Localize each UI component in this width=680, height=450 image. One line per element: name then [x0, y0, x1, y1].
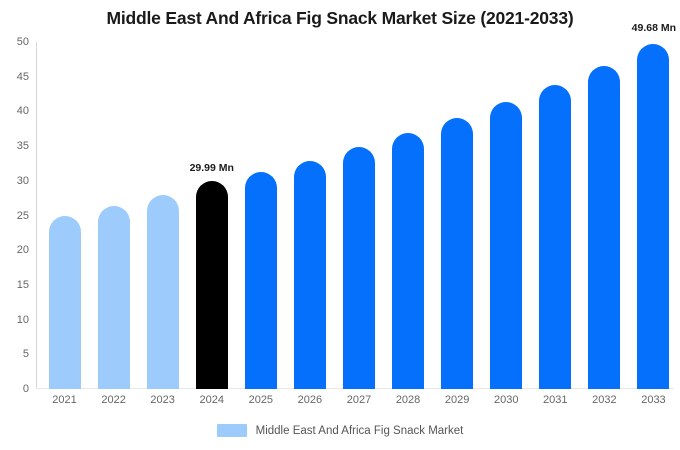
chart-title: Middle East And Africa Fig Snack Market … — [0, 8, 680, 29]
x-axis-tick-label: 2029 — [433, 394, 482, 406]
bar-group — [294, 42, 326, 389]
x-axis-tick-label: 2031 — [531, 394, 580, 406]
y-axis-tick-label: 30 — [17, 175, 29, 187]
bar-group — [441, 42, 473, 389]
y-axis-tick-label: 20 — [17, 244, 29, 256]
plot-area: 05101520253035404550 29.99 Mn — [36, 42, 674, 389]
x-axis-tick-label: 2023 — [138, 394, 187, 406]
bar-group — [490, 42, 522, 389]
x-axis-tick-label: 2030 — [482, 394, 531, 406]
y-axis-tick-label: 40 — [17, 105, 29, 117]
bar-2029[interactable] — [441, 118, 473, 389]
bar-group — [539, 42, 571, 389]
x-axis-tick-label: 2022 — [89, 394, 138, 406]
bar-2022[interactable] — [98, 206, 130, 389]
y-axis-tick-label: 50 — [17, 36, 29, 48]
x-axis-tick-label: 2024 — [187, 394, 236, 406]
legend-label: Middle East And Africa Fig Snack Market — [256, 425, 464, 437]
y-axis-tick-label: 25 — [17, 210, 29, 222]
x-axis-tick-label: 2025 — [236, 394, 285, 406]
last-value-annotation: 49.68 Mn — [632, 22, 676, 34]
bar-group: 29.99 Mn — [196, 42, 228, 389]
y-axis-tick-label: 45 — [17, 71, 29, 83]
y-axis-tick-label: 5 — [23, 348, 29, 360]
bar-2027[interactable] — [343, 147, 375, 389]
x-axis-tick-label: 2021 — [40, 394, 89, 406]
bar-chart: Middle East And Africa Fig Snack Market … — [0, 0, 680, 450]
x-axis-tick-label: 2032 — [580, 394, 629, 406]
bar-group — [147, 42, 179, 389]
bar-2026[interactable] — [294, 161, 326, 389]
x-axis-tick-label: 2026 — [285, 394, 334, 406]
bar-group — [98, 42, 130, 389]
x-axis-tick-labels: 2021202220232024202520262027202820292030… — [36, 394, 674, 416]
y-axis-tick-label: 35 — [17, 140, 29, 152]
bar-group — [637, 42, 669, 389]
bars-layer: 29.99 Mn — [36, 42, 674, 389]
legend-swatch-icon — [217, 424, 247, 437]
y-axis-tick-label: 10 — [17, 314, 29, 326]
bar-value-label: 29.99 Mn — [190, 162, 234, 174]
y-axis-tick-label: 15 — [17, 279, 29, 291]
bar-group — [343, 42, 375, 389]
bar-2033[interactable] — [637, 44, 669, 389]
bar-group — [392, 42, 424, 389]
bar-2030[interactable] — [490, 102, 522, 389]
chart-legend: Middle East And Africa Fig Snack Market — [0, 424, 680, 437]
x-axis-tick-label: 2027 — [334, 394, 383, 406]
bar-2031[interactable] — [539, 85, 571, 389]
bar-group — [49, 42, 81, 389]
x-axis-tick-label: 2033 — [629, 394, 678, 406]
bar-2028[interactable] — [392, 133, 424, 389]
bar-group — [588, 42, 620, 389]
bar-2032[interactable] — [588, 66, 620, 389]
x-axis-tick-label: 2028 — [384, 394, 433, 406]
bar-2025[interactable] — [245, 172, 277, 389]
bar-2021[interactable] — [49, 216, 81, 390]
bar-group — [245, 42, 277, 389]
bar-2023[interactable] — [147, 195, 179, 389]
y-axis-tick-label: 0 — [23, 383, 29, 395]
bar-2024[interactable] — [196, 181, 228, 389]
